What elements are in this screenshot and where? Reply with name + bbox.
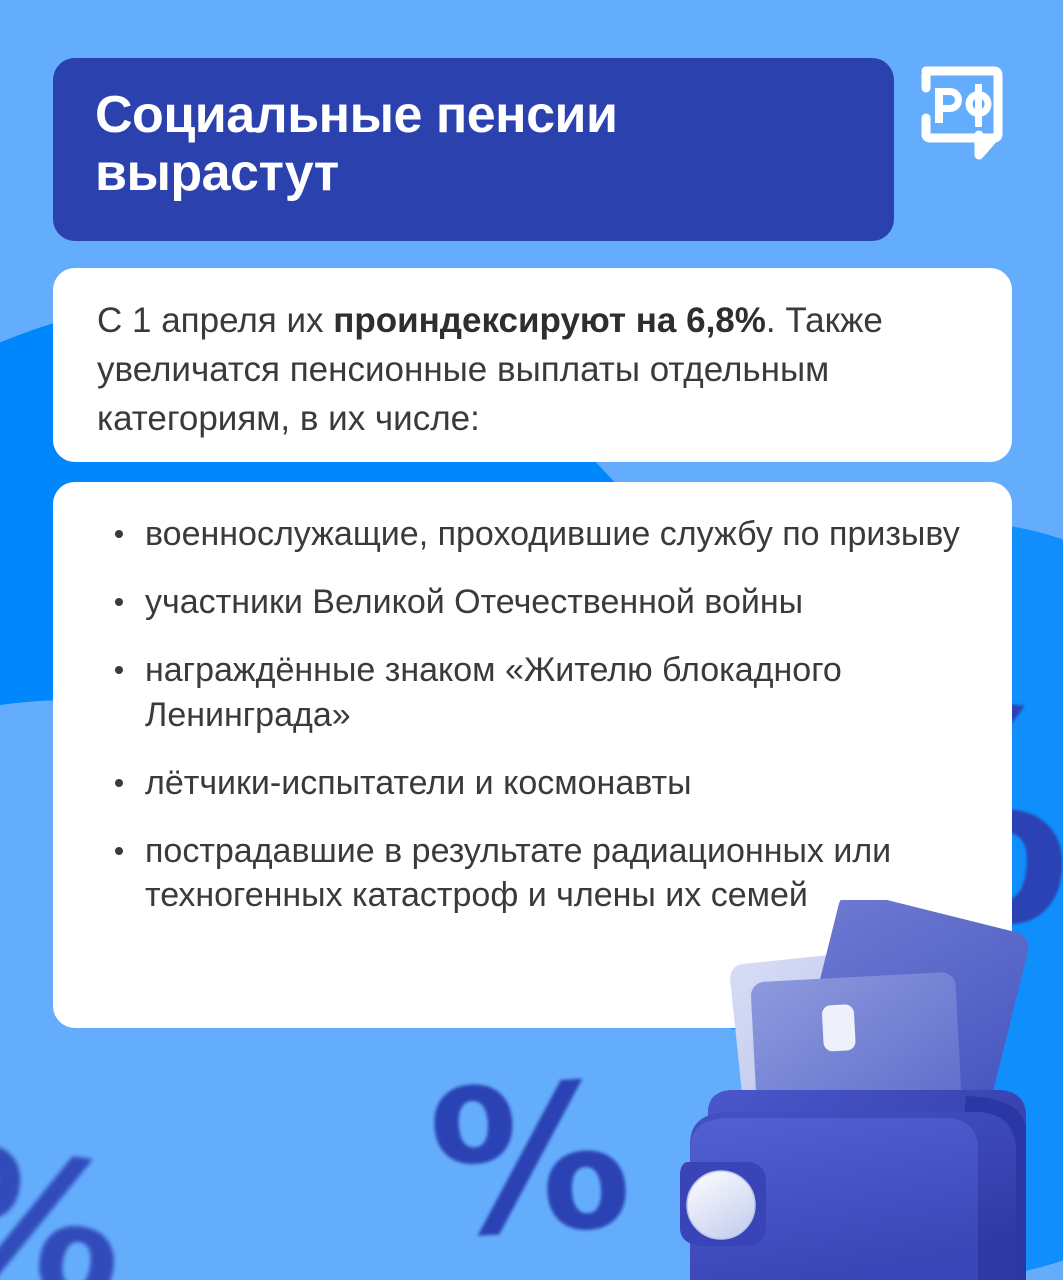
rf-logo-icon [916,58,1004,162]
intro-highlight: проиндексируют на 6,8% [333,301,766,340]
list-item: военнослужащие, проходившие службу по пр… [97,512,968,556]
intro-card: С 1 апреля их проиндексируют на 6,8%. Та… [53,268,1012,462]
poster-root: % % % Социальные пенсии вырастут [0,0,1063,1280]
list-item: награждённые знаком «Жителю блокадного Л… [97,648,968,736]
list-item: лётчики-испытатели и космонавты [97,761,968,805]
intro-lead: С 1 апреля их [97,301,333,340]
list-item: участники Великой Отечественной войны [97,580,968,624]
percent-medium-icon: % [425,1057,636,1267]
wallet-illustration [648,900,1063,1280]
intro-text: С 1 апреля их проиндексируют на 6,8%. Та… [97,296,968,443]
header-card: Социальные пенсии вырастут [53,58,894,241]
percent-small-icon: % [0,1120,137,1280]
categories-list: военнослужащие, проходившие службу по пр… [97,512,968,917]
page-title: Социальные пенсии вырастут [95,86,854,202]
